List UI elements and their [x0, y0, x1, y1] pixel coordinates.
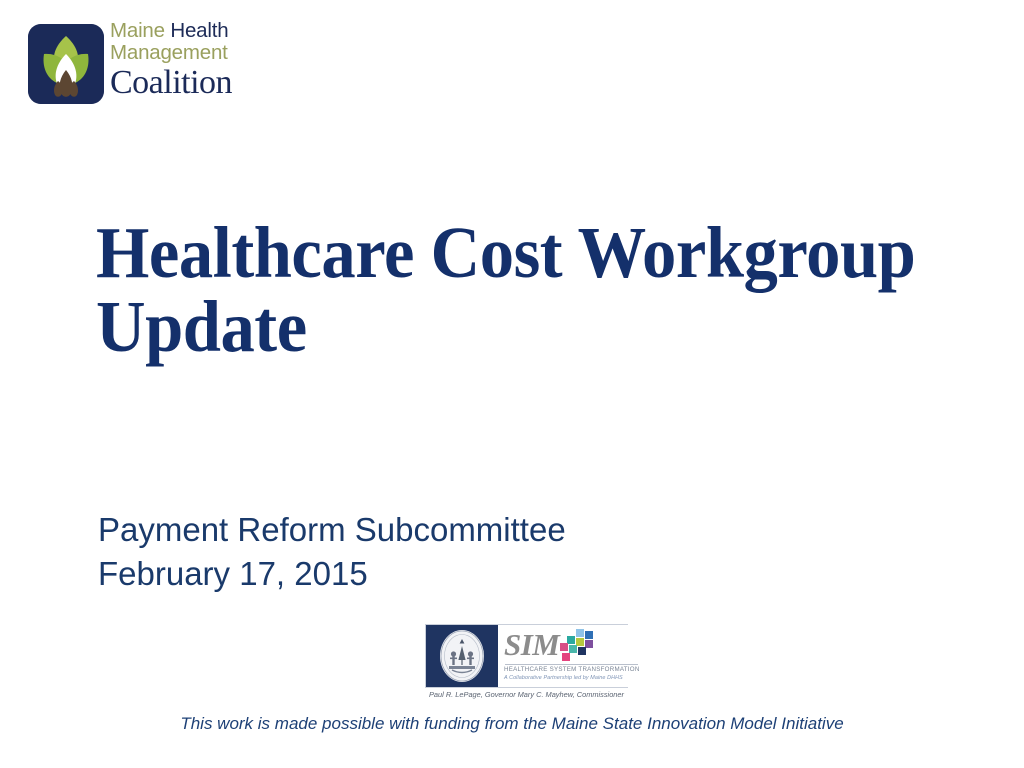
sim-wordmark: SIM	[504, 628, 559, 661]
subtitle-line-committee: Payment Reform Subcommittee	[98, 508, 738, 552]
page-title: Healthcare Cost Workgroup Update	[96, 216, 923, 364]
mhmc-wordmark: Maine Health Management Coalition	[110, 20, 262, 101]
sim-tagline-primary: HEALTHCARE SYSTEM TRANSFORMATION	[504, 666, 640, 674]
maine-state-seal-icon	[440, 630, 484, 682]
governor-name: Paul R. LePage, Governor	[429, 690, 516, 700]
maine-state-seal-box	[426, 625, 498, 687]
mhmc-logo: Maine Health Management Coalition	[28, 20, 260, 108]
mhmc-line-one: Maine Health	[110, 20, 262, 42]
sim-logo: SIM HEALTHCARE SYSTEM TRANSFORMATIO	[425, 624, 628, 702]
sim-tiles-icon	[560, 629, 596, 663]
sim-logo-main: SIM HEALTHCARE SYSTEM TRANSFORMATIO	[425, 624, 628, 688]
mhmc-word-maine: Maine	[110, 19, 170, 42]
sim-divider	[505, 664, 638, 665]
title-block: Healthcare Cost Workgroup Update	[96, 216, 976, 364]
mhmc-leaf-icon	[28, 24, 104, 104]
subtitle-line-date: February 17, 2015	[98, 552, 738, 596]
mhmc-word-coalition: Coalition	[110, 65, 262, 101]
sim-wordmark-area: SIM HEALTHCARE SYSTEM TRANSFORMATIO	[498, 625, 644, 687]
mhmc-word-management: Management	[110, 42, 262, 64]
mhmc-word-health: Health	[170, 19, 228, 42]
commissioner-name: Mary C. Mayhew, Commissioner	[518, 690, 624, 700]
funding-note: This work is made possible with funding …	[0, 712, 1024, 736]
sim-tagline-secondary: A Collaborative Partnership led by Maine…	[504, 674, 640, 682]
sim-officials-row: Paul R. LePage, Governor Mary C. Mayhew,…	[425, 690, 628, 700]
presentation-slide: Maine Health Management Coalition Health…	[0, 0, 1024, 768]
subtitle-block: Payment Reform Subcommittee February 17,…	[98, 508, 738, 596]
sim-wordmark-row: SIM	[504, 628, 640, 663]
